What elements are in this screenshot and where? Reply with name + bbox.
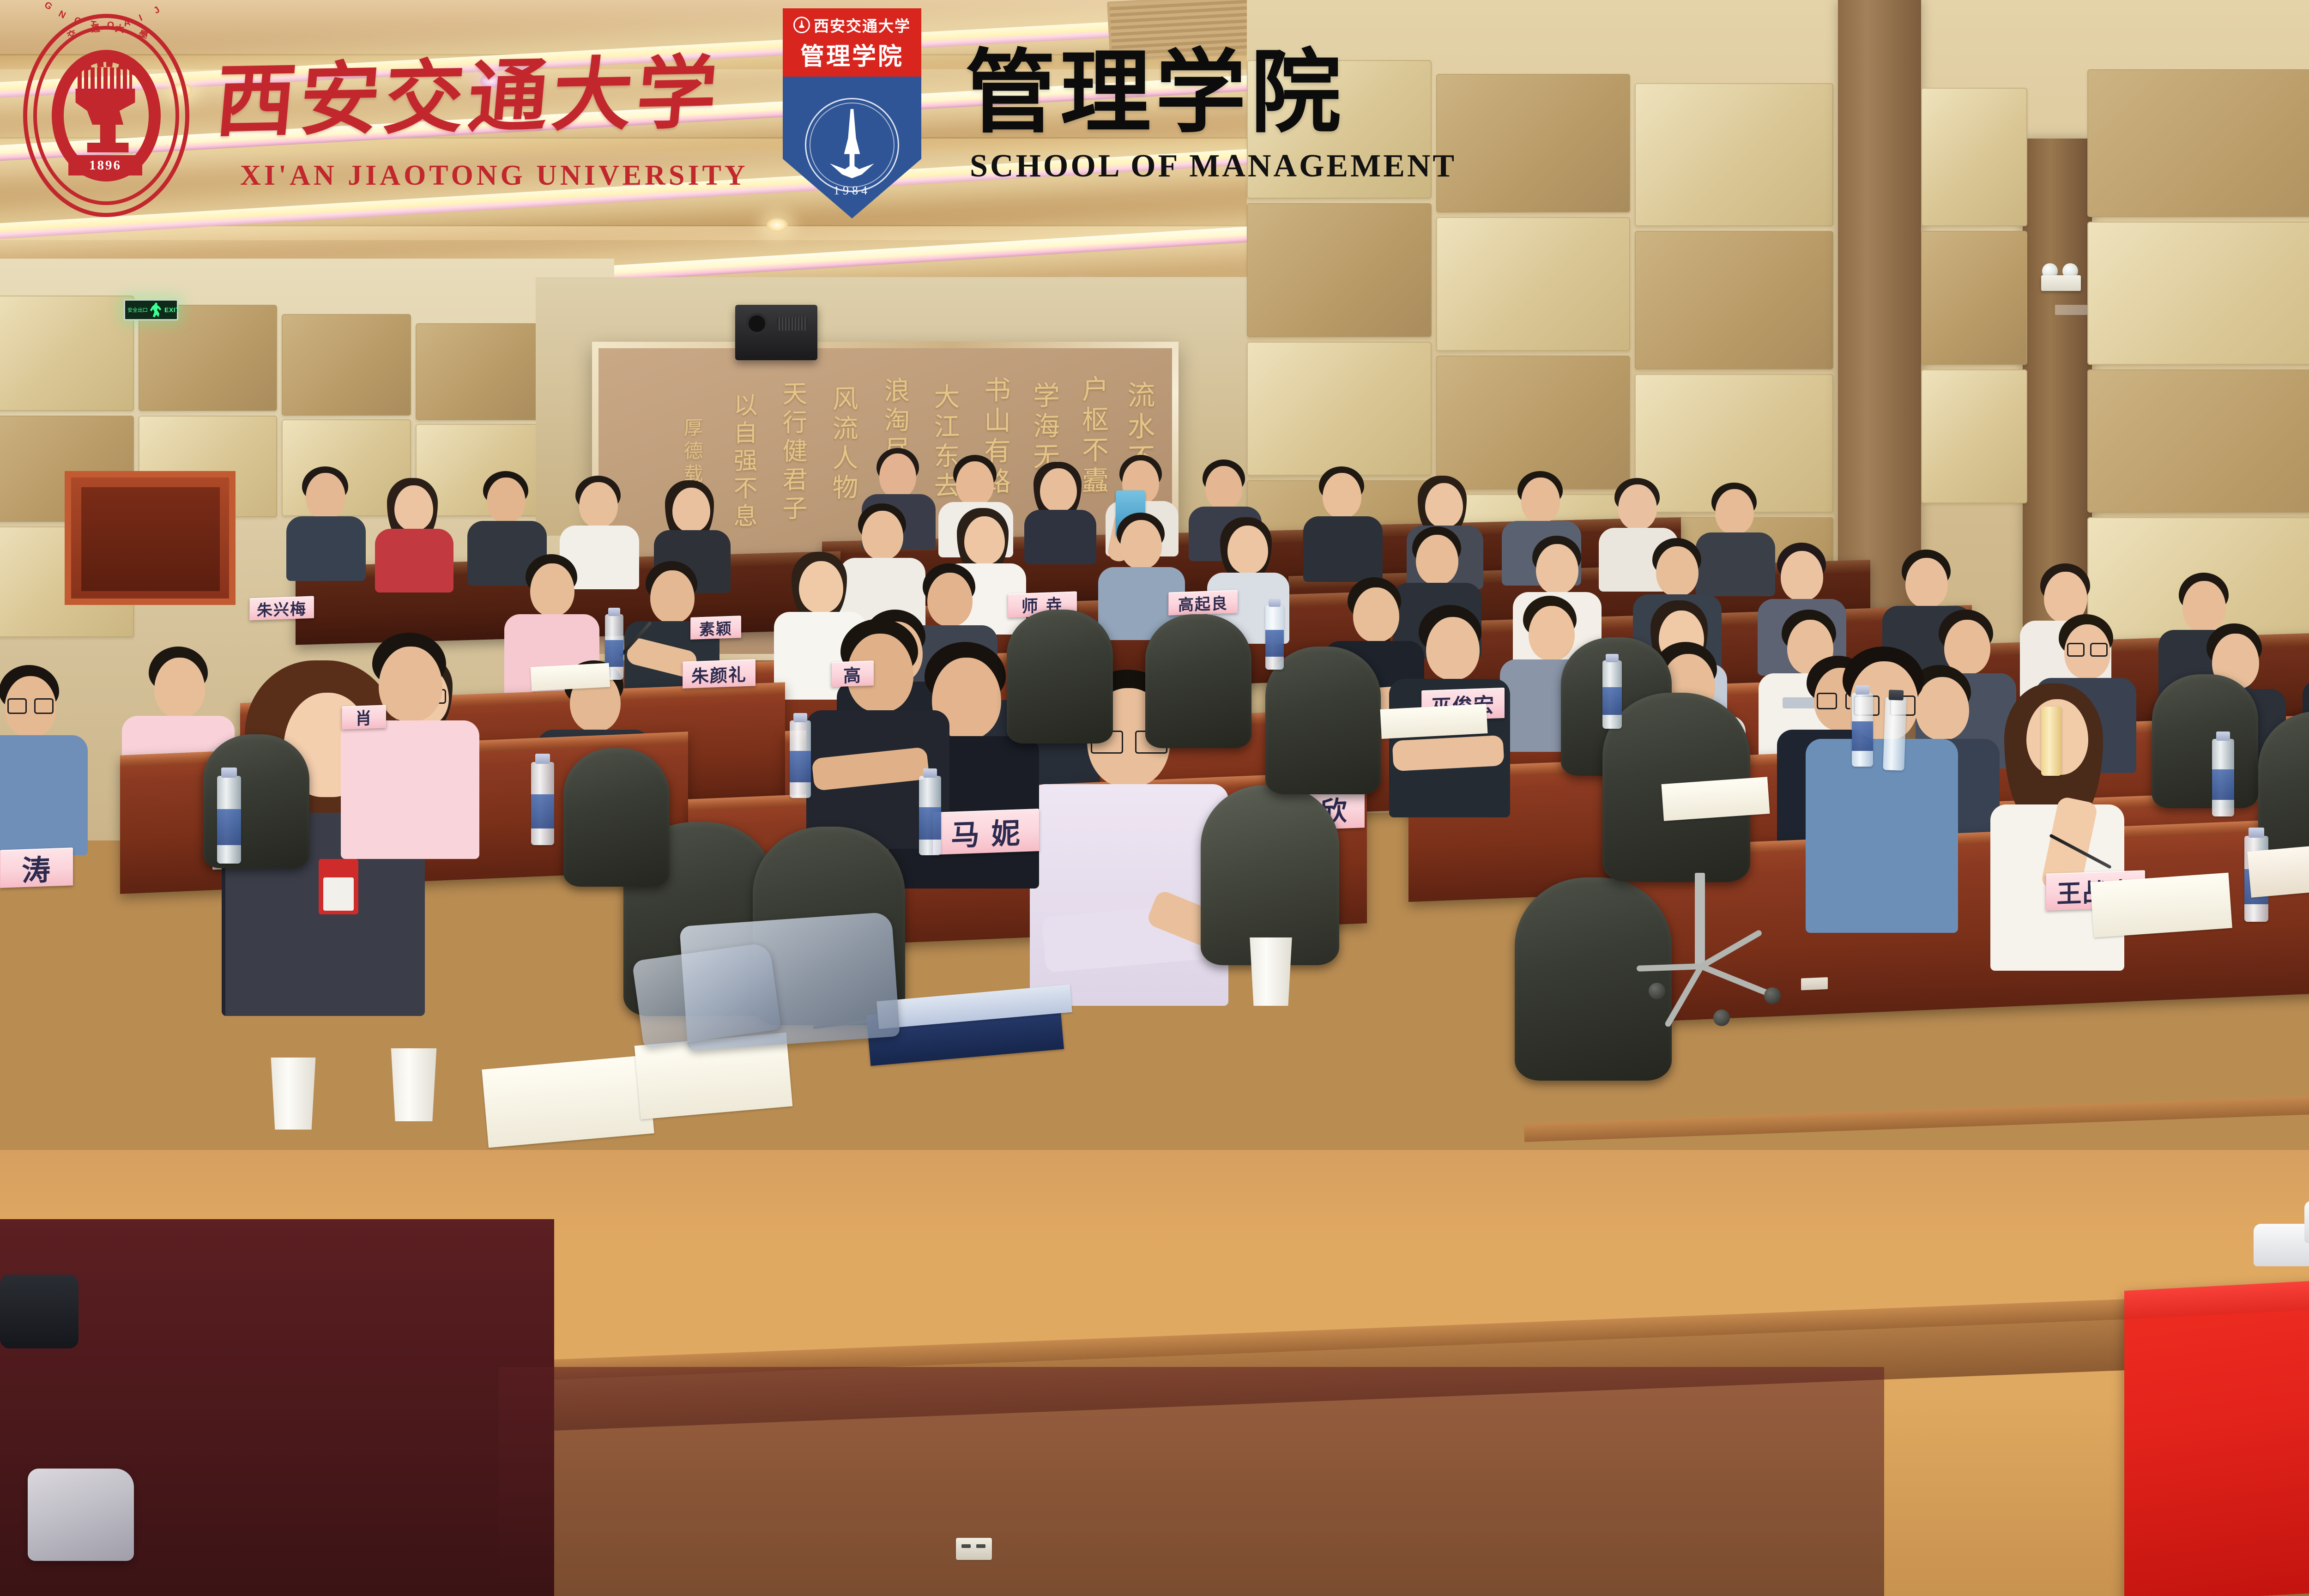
wall-panel [416, 323, 540, 420]
plastic-bag[interactable] [28, 1469, 134, 1561]
drink-cup[interactable] [2041, 707, 2061, 776]
wall-panel [0, 296, 134, 411]
wall-panel [1921, 369, 2027, 503]
document-sheet[interactable] [1661, 777, 1770, 821]
paper-cup[interactable] [268, 1058, 319, 1130]
shoe [2254, 1224, 2309, 1266]
document-sheet[interactable] [482, 1055, 654, 1148]
wall-panel [1921, 231, 2027, 365]
office-chair[interactable] [1145, 614, 1251, 748]
ceiling-spotlight [767, 218, 788, 232]
name-placard-p-suying: 素颖 [690, 616, 741, 640]
wall-panel [1921, 88, 2027, 226]
wall-panel [139, 305, 277, 411]
wall-panel [1635, 83, 1833, 226]
paper-cup[interactable] [388, 1048, 440, 1121]
chair-wheel-base [1626, 873, 1792, 1034]
paper-cup[interactable] [1247, 937, 1295, 1006]
wall-panel [1436, 217, 1630, 351]
water-bottle[interactable] [531, 762, 554, 845]
water-bottle[interactable] [2212, 739, 2234, 816]
wall-panel [2087, 369, 2309, 513]
classroom-photo: 安全出口 EXIT 流水不腐 户枢不蠹 学海无涯 书山有路 大江东去 浪淘尽千古… [0, 0, 2309, 1596]
chair-caster [1713, 1010, 1730, 1026]
water-bottle[interactable] [790, 720, 811, 798]
document-sheet[interactable] [2090, 873, 2232, 938]
name-placard-p-tao: 涛 [0, 847, 73, 888]
name-placard-p-zhuxingmei: 朱兴梅 [249, 596, 314, 621]
wall-panel [2087, 69, 2309, 217]
office-chair[interactable] [563, 748, 670, 887]
exit-sign-label-cn: 安全出口 [125, 306, 148, 314]
side-door-panel [81, 487, 220, 591]
document-sheet[interactable] [1380, 704, 1487, 739]
office-chair[interactable] [2152, 674, 2258, 808]
wall-panel [1247, 60, 1432, 199]
exit-sign: 安全出口 EXIT [124, 299, 178, 320]
exit-sign-label-en: EXIT [164, 306, 180, 314]
wall-panel [1247, 342, 1432, 476]
water-bottle[interactable] [1852, 693, 1873, 767]
emergency-light [2041, 263, 2081, 291]
water-bottle[interactable] [1265, 605, 1284, 670]
floor-power-outlet[interactable] [956, 1538, 992, 1560]
emergency-light-body [2041, 275, 2081, 291]
wall-plaque [2055, 305, 2087, 315]
shoe [0, 1275, 79, 1348]
name-placard-p-gaoqil: 高起良 [1168, 590, 1238, 615]
document-sheet[interactable] [531, 663, 610, 691]
wall-speaker [735, 305, 817, 360]
chair-caster [1649, 983, 1665, 999]
ceiling-spotlight [480, 74, 502, 88]
name-placard-p-xiao: 肖 [342, 705, 386, 729]
floor-step-edge [1524, 1093, 2309, 1142]
water-bottle[interactable] [919, 776, 941, 855]
water-bottle[interactable] [1602, 660, 1622, 729]
water-bottle[interactable] [217, 776, 241, 864]
eyeglasses [7, 698, 54, 714]
red-cloth-table [2124, 1277, 2309, 1596]
name-placard-p-gao: 高 [831, 660, 874, 687]
running-person-icon [149, 302, 163, 317]
office-chair[interactable] [1007, 610, 1113, 744]
chair-caster [1764, 987, 1781, 1004]
ceiling-spotlight [171, 83, 192, 97]
tumbler[interactable] [1883, 697, 1906, 771]
shoe [2304, 1201, 2309, 1243]
wall-panel [1436, 356, 1630, 490]
wall-panel [282, 314, 411, 416]
floor-carpet [499, 1367, 1884, 1596]
name-placard-p-mani: 马 妮 [933, 809, 1039, 855]
wall-panel [1635, 231, 1833, 369]
wall-panel [1247, 203, 1432, 337]
wall-panel [1436, 74, 1630, 212]
desk-asset-tag [1801, 977, 1828, 990]
name-placard-p-zhuyanli: 朱颜礼 [683, 659, 756, 689]
eyeglasses [2067, 643, 2109, 657]
wall-panel [2087, 222, 2309, 365]
